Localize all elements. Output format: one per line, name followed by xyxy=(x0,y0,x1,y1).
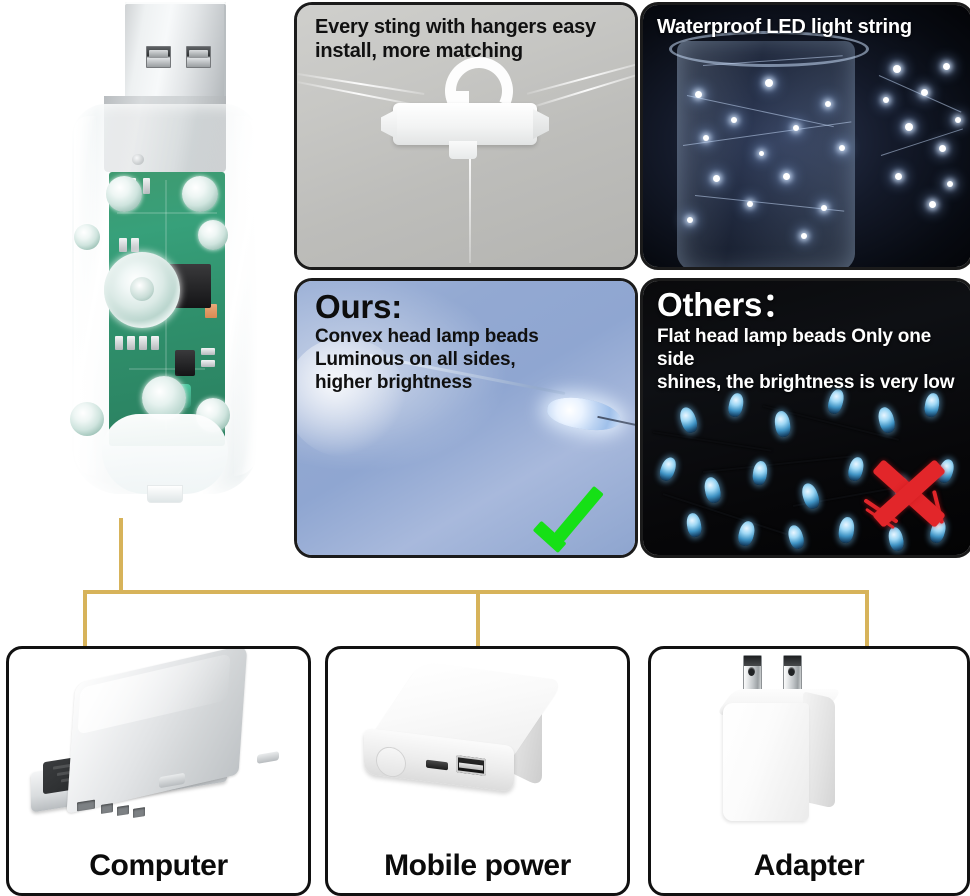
card-mobile-power-label: Mobile power xyxy=(328,849,627,883)
panel-ours-heading-text: Ours: xyxy=(315,288,402,325)
panel-ours-caption-line-2: Luminous on all sides, xyxy=(315,348,615,371)
panel-hanger: Every sting with hangers easy install, m… xyxy=(294,2,638,270)
card-mobile-power[interactable]: Mobile power xyxy=(325,646,630,896)
usb-led-dome-mid-left xyxy=(74,224,100,250)
usb-led-dome-top-left xyxy=(106,176,142,212)
panel-waterproof-caption: Waterproof LED light string xyxy=(657,15,957,39)
glass-jar xyxy=(677,41,855,270)
red-cross-icon xyxy=(861,445,953,537)
panel-others-caption-line-2: shines, the brightness is very low xyxy=(657,371,963,394)
panel-others: Others： Flat head lamp beads Only one si… xyxy=(640,278,970,558)
panel-hanger-caption-line-1: Every sting with hangers easy xyxy=(315,15,615,39)
usb-housing-base xyxy=(102,414,228,494)
adapter-front-face xyxy=(723,703,809,821)
connector-drop-adapter xyxy=(865,590,869,648)
panel-hanger-caption: Every sting with hangers easy install, m… xyxy=(315,15,615,64)
infographic-canvas: Every sting with hangers easy install, m… xyxy=(0,0,970,896)
usb-led-dome-low-left xyxy=(70,402,104,436)
usb-housing-edge-right xyxy=(234,116,258,476)
usb-contact-pin-right xyxy=(186,46,211,68)
panel-ours-caption-line-1: Convex head lamp beads xyxy=(315,325,615,348)
card-computer-label: Computer xyxy=(9,849,308,883)
hanger-clip-body xyxy=(393,103,537,145)
panel-others-heading: Others： xyxy=(657,285,795,325)
power-bank-usb-a-port xyxy=(456,755,486,776)
usb-led-dome-top-right xyxy=(182,176,218,212)
panel-hanger-caption-line-2: install, more matching xyxy=(315,39,615,63)
connector-drop-computer xyxy=(83,590,87,648)
usb-a-plug xyxy=(125,2,226,102)
panel-waterproof: Waterproof LED light string xyxy=(640,2,970,270)
usb-controller-image xyxy=(46,0,282,536)
usb-contact-pin-left xyxy=(146,46,171,68)
panel-ours-caption-line-3: higher brightness xyxy=(315,371,615,394)
green-check-icon xyxy=(535,497,609,539)
usb-main-lens xyxy=(104,252,180,328)
connector-stem-vertical xyxy=(119,518,123,592)
usb-cable-outlet xyxy=(147,485,183,503)
panel-others-heading-text: Others： xyxy=(657,286,795,323)
hanger-wire-stub xyxy=(449,141,477,159)
panel-others-caption-line-1: Flat head lamp beads Only one side xyxy=(657,325,963,371)
panel-others-caption: Flat head lamp beads Only one side shine… xyxy=(657,325,963,395)
connector-drop-mobile xyxy=(476,590,480,648)
panel-ours-caption: Convex head lamp beads Luminous on all s… xyxy=(315,325,615,395)
card-adapter[interactable]: Adapter xyxy=(648,646,970,896)
panel-ours: Ours: Convex head lamp beads Luminous on… xyxy=(294,278,638,558)
panel-waterproof-caption-line-1: Waterproof LED light string xyxy=(657,15,957,39)
card-computer[interactable]: Computer xyxy=(6,646,311,896)
panel-ours-heading: Ours: xyxy=(315,287,402,327)
card-adapter-label: Adapter xyxy=(651,849,967,883)
usb-led-dome-mid-right xyxy=(198,220,228,250)
